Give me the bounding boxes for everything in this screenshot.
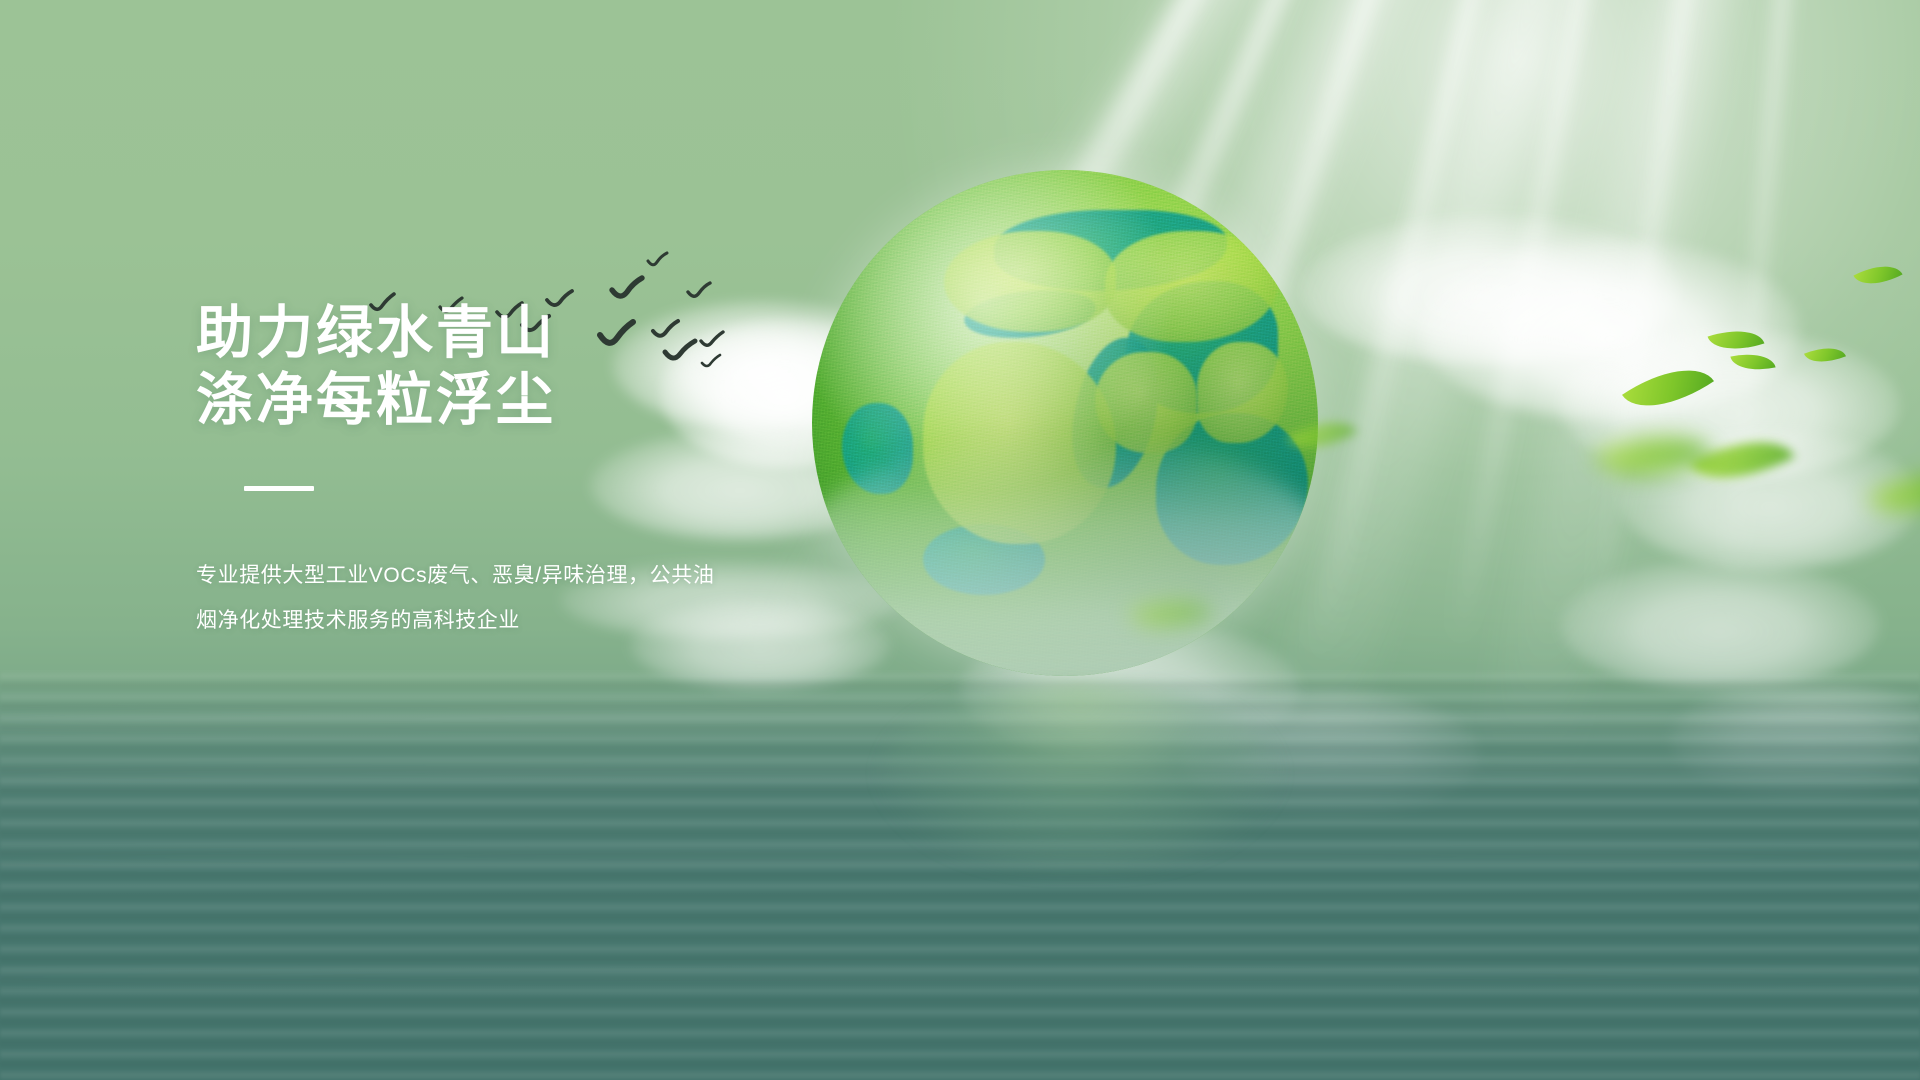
globe-land-asia [1105,231,1277,342]
water-highlight-band-2 [0,766,1920,786]
globe-grass-texture [812,170,1318,676]
hero-banner: 助力绿水青山 涤净每粒浮尘 专业提供大型工业VOCs废气、恶臭/异味治理，公共油… [0,0,1920,1080]
globe-ocean-west [842,403,913,494]
globe-ocean-med [962,285,1098,344]
headline-line-1: 助力绿水青山 [196,300,816,367]
globe-ocean-north [994,210,1227,291]
globe-shading [812,170,1318,676]
title-underline [244,486,314,491]
leaf-center-right [1708,321,1765,360]
page-title: 助力绿水青山 涤净每粒浮尘 [196,300,816,434]
globe-base-mist [812,433,1318,676]
leaf-blur-bottom [1594,410,1716,502]
globe-land-africa [923,342,1115,544]
globe-sphere [812,170,1318,676]
cloud-right-upper [1300,215,1680,365]
cloud-right-lower [1620,430,1920,570]
globe-ocean-east [1126,281,1278,413]
sun-glow [820,0,1920,760]
headline-line-2: 涤净每粒浮尘 [196,367,816,434]
leaf-globe-lower [1128,583,1214,646]
leaf-blur-lower [1689,418,1794,502]
cloud-right-mid [1560,330,1900,480]
globe-land-europe [944,231,1116,332]
leaf-mid-right [1804,340,1846,371]
water-highlight-band-4 [0,970,1920,986]
globe-ocean-indian [1156,413,1308,565]
hero-copy-block: 助力绿水青山 涤净每粒浮尘 专业提供大型工业VOCs废气、恶臭/异味治理，公共油… [196,300,816,643]
water-surface-reflection [0,670,1920,1080]
hero-subtitle: 专业提供大型工业VOCs废气、恶臭/异味治理，公共油烟净化处理技术服务的高科技企… [196,553,736,643]
leaf-blur-far-right [1867,449,1920,537]
globe-land-arabia [1095,352,1196,453]
leaf-far-right-top [1853,255,1902,295]
green-grass-earth-globe [812,170,1318,676]
cloud-right-main [1420,240,1800,420]
globe-ocean-south [923,524,1044,595]
leaf-large-left [1622,348,1714,428]
leaf-upper-cluster [1730,348,1775,376]
globe-ocean-gulf [1056,329,1176,497]
leaf-on-globe [1287,406,1357,464]
water-highlight-band-1 [0,710,1920,736]
globe-land-india [1197,342,1288,443]
water-highlight-band-3 [0,850,1920,868]
